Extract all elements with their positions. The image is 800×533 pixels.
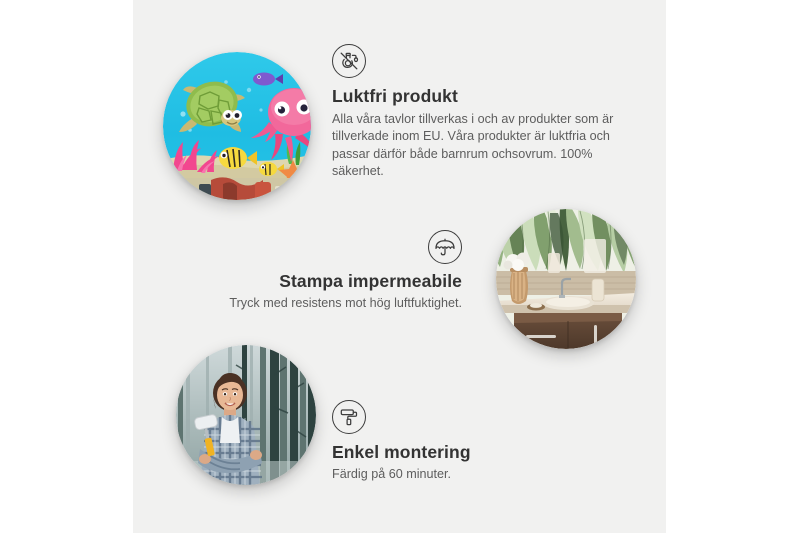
umbrella-icon: [428, 230, 462, 264]
feature-odourless: Luktfri produkt Alla våra tavlor tillver…: [332, 44, 632, 181]
feature-description: Tryck med resistens mot hög luftfuktighe…: [160, 295, 462, 312]
feature-description: Alla våra tavlor tillverkas i och av pro…: [332, 111, 632, 181]
no-fragrance-icon: [332, 44, 366, 78]
feature-assembly: Enkel montering Färdig på 60 minuter.: [332, 400, 632, 483]
photo-underwater-cartoon-mural: [163, 52, 311, 200]
photo-woman-with-paint-roller: [176, 345, 316, 485]
paint-roller-icon: [332, 400, 366, 434]
feature-title: Stampa impermeabile: [160, 271, 462, 292]
feature-waterproof: Stampa impermeabile Tryck med resistens …: [160, 230, 462, 312]
photo-bathroom-vanity: [496, 209, 636, 349]
feature-title: Luktfri produkt: [332, 86, 632, 107]
feature-title: Enkel montering: [332, 442, 632, 463]
icon-row: [160, 230, 462, 264]
feature-description: Färdig på 60 minuter.: [332, 466, 632, 483]
promo-feature-panel: Luktfri produkt Alla våra tavlor tillver…: [0, 0, 800, 533]
